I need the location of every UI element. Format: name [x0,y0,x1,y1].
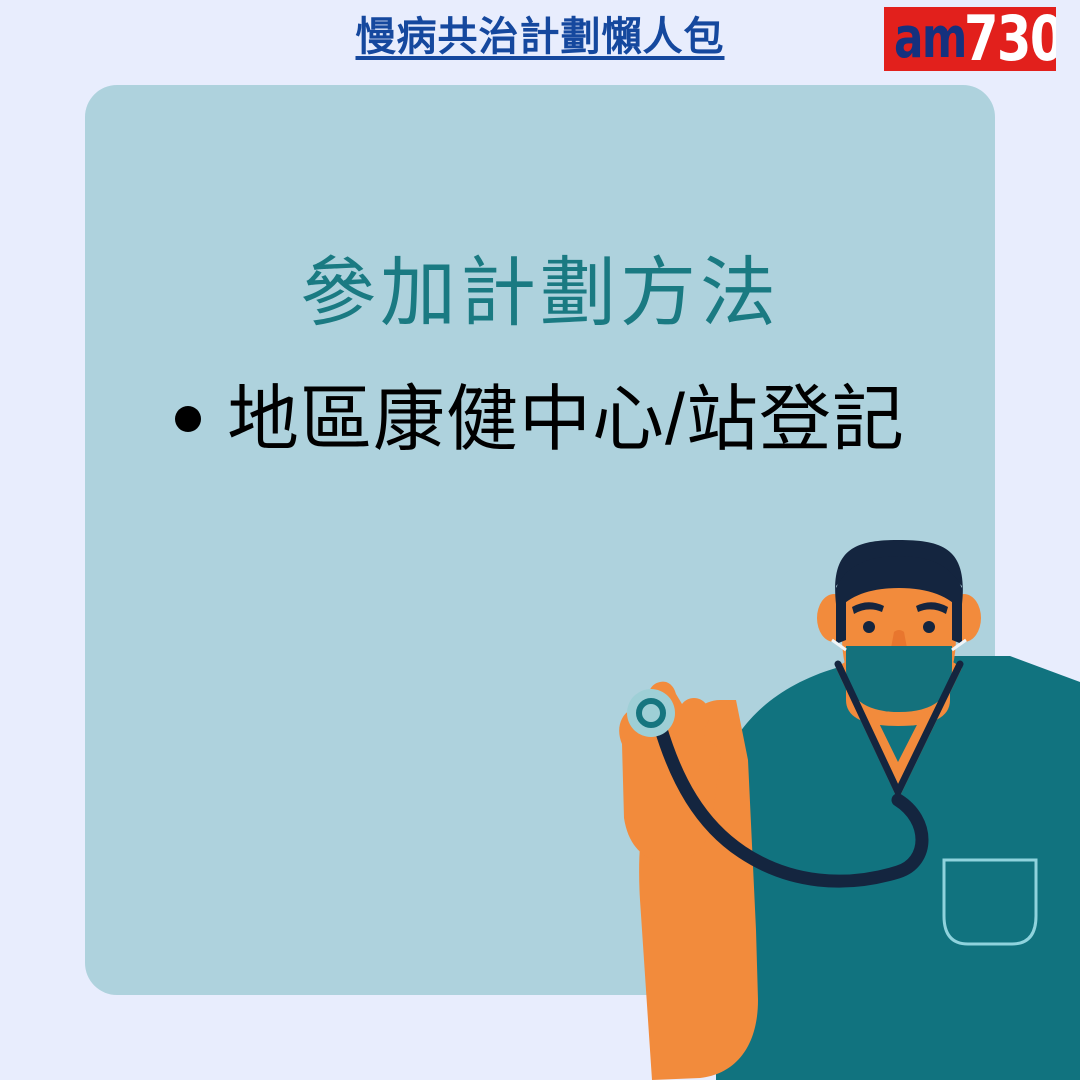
bullet-dot-icon [175,406,201,432]
list-item-label: 地區康健中心/站登記 [227,378,905,462]
logo-text-730: 730 [964,8,1056,70]
am730-logo: am 730 [884,7,1056,71]
logo-text-am: am [894,11,966,67]
card-heading: 參加計劃方法 [85,248,995,340]
content-card: 參加計劃方法 地區康健中心/站登記 [85,85,995,995]
infographic-page: 慢病共治計劃懶人包 am 730 參加計劃方法 地區康健中心/站登記 [0,0,1080,1080]
bullet-list: 地區康健中心/站登記 [85,378,995,462]
header: 慢病共治計劃懶人包 am 730 [0,0,1080,82]
list-item: 地區康健中心/站登記 [175,378,905,462]
